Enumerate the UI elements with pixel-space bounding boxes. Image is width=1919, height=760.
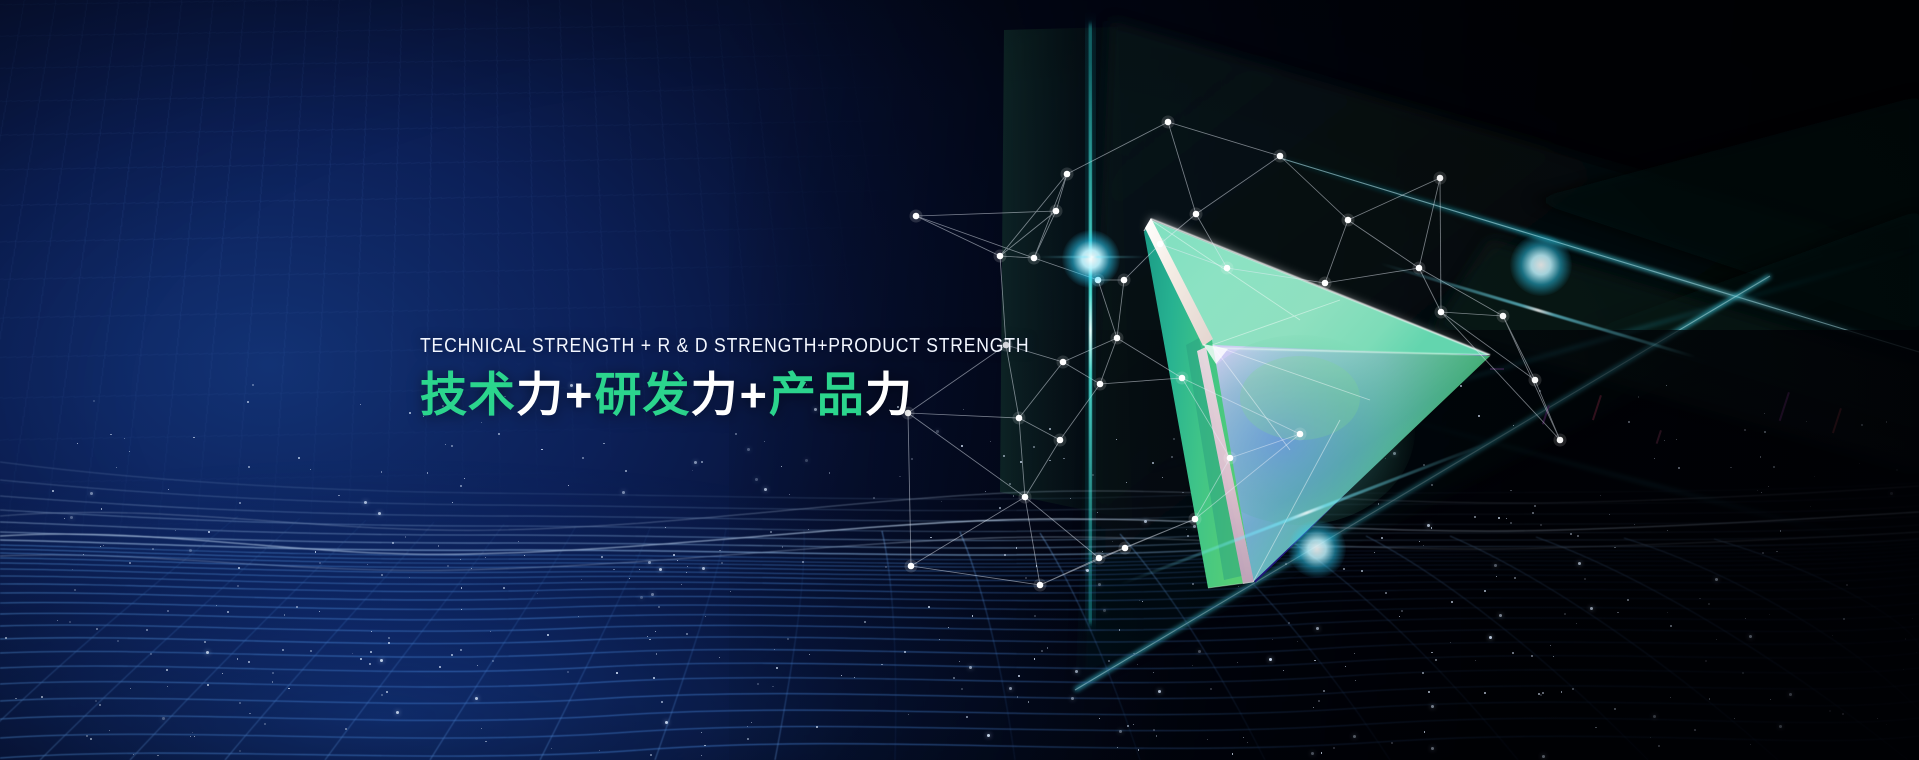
headline-segment-4: 力 — [690, 368, 738, 421]
headline-block: TECHNICAL STRENGTH + R & D STRENGTH+PROD… — [420, 336, 1112, 422]
headline-segment-1: 力 — [516, 368, 564, 421]
headline-segment-6: 产品 — [769, 368, 865, 421]
headline-segment-3: 研发 — [594, 368, 690, 421]
headline-segment-5: + — [738, 368, 768, 421]
page-title: 技术力+研发力+产品力 — [420, 369, 1112, 422]
hero-banner: TECHNICAL STRENGTH + R & D STRENGTH+PROD… — [0, 0, 1919, 760]
headline-segment-0: 技术 — [420, 368, 516, 421]
eyebrow-english-tagline: TECHNICAL STRENGTH + R & D STRENGTH+PROD… — [420, 336, 1029, 356]
headline-segment-7: 力 — [865, 368, 913, 421]
headline-segment-2: + — [564, 368, 594, 421]
